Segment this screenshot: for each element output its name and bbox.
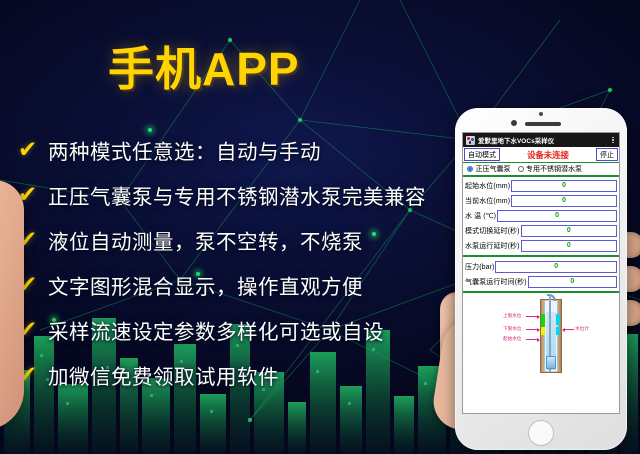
phone-mockup: 爱默里地下水VOCs采样仪 自动模式 设备未连接 停止 正压气囊泵 专用不锈钢潜…: [455, 108, 627, 450]
field-value-input[interactable]: 0: [521, 225, 617, 237]
list-item-label: 正压气囊泵与专用不锈钢潜水泵完美兼容: [48, 180, 426, 210]
promo-banner: 手机APP ✔ 两种模式任意选：自动与手动 ✔ 正压气囊泵与专用不锈钢潜水泵完美…: [0, 0, 640, 454]
app-title: 爱默里地下水VOCs采样仪: [478, 136, 612, 145]
earpiece-speaker: [525, 122, 561, 126]
diagram-label-start: 起始水位: [503, 336, 521, 342]
field-value-input[interactable]: 0: [521, 240, 617, 252]
radio-option-bladder-pump[interactable]: 正压气囊泵: [467, 164, 511, 174]
pump-type-radio-group: 正压气囊泵 专用不锈钢潜水泵: [463, 163, 619, 177]
field-label: 水泵运行延时(秒): [465, 241, 520, 251]
radio-label: 正压气囊泵: [476, 164, 511, 174]
proximity-sensor-icon: [511, 120, 517, 126]
list-item: ✔ 液位自动测量，泵不空转，不烧泵: [18, 217, 478, 262]
diagram-label-upper: 上限水位: [503, 313, 521, 319]
field-value-input[interactable]: 0: [495, 261, 617, 273]
list-item: ✔ 两种模式任意选：自动与手动: [18, 127, 478, 172]
page-title: 手机APP: [108, 33, 300, 99]
field-value-input[interactable]: 0: [528, 276, 617, 288]
phone-top-bezel: [455, 108, 627, 130]
field-label: 当前水位(mm): [465, 196, 510, 206]
field-row: 压力(bar) 0: [463, 259, 619, 274]
arrow-icon: [526, 329, 539, 330]
upper-level-marker: [541, 314, 545, 327]
list-item-label: 文字图形混合显示，操作直观方便: [48, 270, 363, 300]
field-value-input[interactable]: 0: [511, 195, 617, 207]
palm: [0, 180, 24, 430]
app-toolbar: 自动模式 设备未连接 停止: [463, 147, 619, 163]
app-title-bar: 爱默里地下水VOCs采样仪: [463, 133, 619, 147]
mode-button[interactable]: 自动模式: [464, 148, 500, 161]
field-row: 当前水位(mm) 0: [463, 193, 619, 208]
home-button[interactable]: [528, 420, 554, 446]
arrow-icon: [526, 316, 539, 317]
field-label: 压力(bar): [465, 262, 494, 272]
app-logo-icon: [466, 136, 475, 145]
field-row: 水 温 (℃) 0: [463, 208, 619, 223]
field-row: 气囊泵运行时间(秒) 0: [463, 274, 619, 289]
field-row: 水泵运行延时(秒) 0: [463, 238, 619, 253]
arrow-icon: [526, 339, 539, 340]
field-label: 起始水位(mm): [465, 181, 510, 191]
phone-screen: 爱默里地下水VOCs采样仪 自动模式 设备未连接 停止 正压气囊泵 专用不锈钢潜…: [462, 132, 620, 414]
radio-label: 专用不锈钢潜水泵: [526, 164, 582, 174]
parameter-fields-group-2: 压力(bar) 0 气囊泵运行时间(秒) 0: [463, 258, 619, 290]
field-value-input[interactable]: 0: [511, 180, 617, 192]
gauge-marker-upper: [556, 314, 560, 325]
field-label: 水 温 (℃): [465, 211, 496, 221]
divider: [463, 255, 619, 257]
check-icon: ✔: [18, 138, 48, 161]
list-item: ✔ 采样流速设定参数多样化可选或自设: [18, 307, 478, 352]
feature-list: ✔ 两种模式任意选：自动与手动 ✔ 正压气囊泵与专用不锈钢潜水泵完美兼容 ✔ 液…: [18, 127, 478, 397]
well-diagram: 上限水位 下限水位 起始水位 水位计: [463, 294, 619, 378]
field-row: 起始水位(mm) 0: [463, 178, 619, 193]
front-camera-icon: [539, 112, 543, 116]
list-item: ✔ 加微信免费领取试用软件: [18, 352, 478, 397]
stop-button[interactable]: 停止: [596, 148, 618, 161]
field-row: 模式切换延时(秒) 0: [463, 223, 619, 238]
list-item: ✔ 正压气囊泵与专用不锈钢潜水泵完美兼容: [18, 172, 478, 217]
list-item-label: 加微信免费领取试用软件: [48, 360, 279, 390]
status-badge: 设备未连接: [501, 147, 595, 162]
divider: [463, 291, 619, 293]
list-item: ✔ 文字图形混合显示，操作直观方便: [18, 262, 478, 307]
pump-body: [546, 356, 556, 369]
radio-unselected-icon: [518, 166, 524, 172]
kebab-menu-icon[interactable]: [612, 137, 616, 144]
gauge-marker-lower: [556, 327, 560, 335]
list-item-label: 采样流速设定参数多样化可选或自设: [48, 315, 384, 345]
lower-level-marker: [541, 327, 545, 335]
radio-selected-icon: [467, 166, 473, 172]
field-label: 模式切换延时(秒): [465, 226, 520, 236]
parameter-fields-group-1: 起始水位(mm) 0 当前水位(mm) 0 水 温 (℃) 0 模式切换延时(秒…: [463, 177, 619, 254]
tube-bend: [547, 294, 556, 301]
list-item-label: 两种模式任意选：自动与手动: [48, 135, 321, 165]
diagram-label-gauge: 水位计: [575, 326, 589, 332]
field-value-input[interactable]: 0: [497, 210, 617, 222]
arrow-icon: [563, 329, 574, 330]
diagram-label-lower: 下限水位: [503, 326, 521, 332]
field-label: 气囊泵运行时间(秒): [465, 277, 527, 287]
radio-option-submersible-pump[interactable]: 专用不锈钢潜水泵: [518, 164, 583, 174]
list-item-label: 液位自动测量，泵不空转，不烧泵: [48, 225, 363, 255]
